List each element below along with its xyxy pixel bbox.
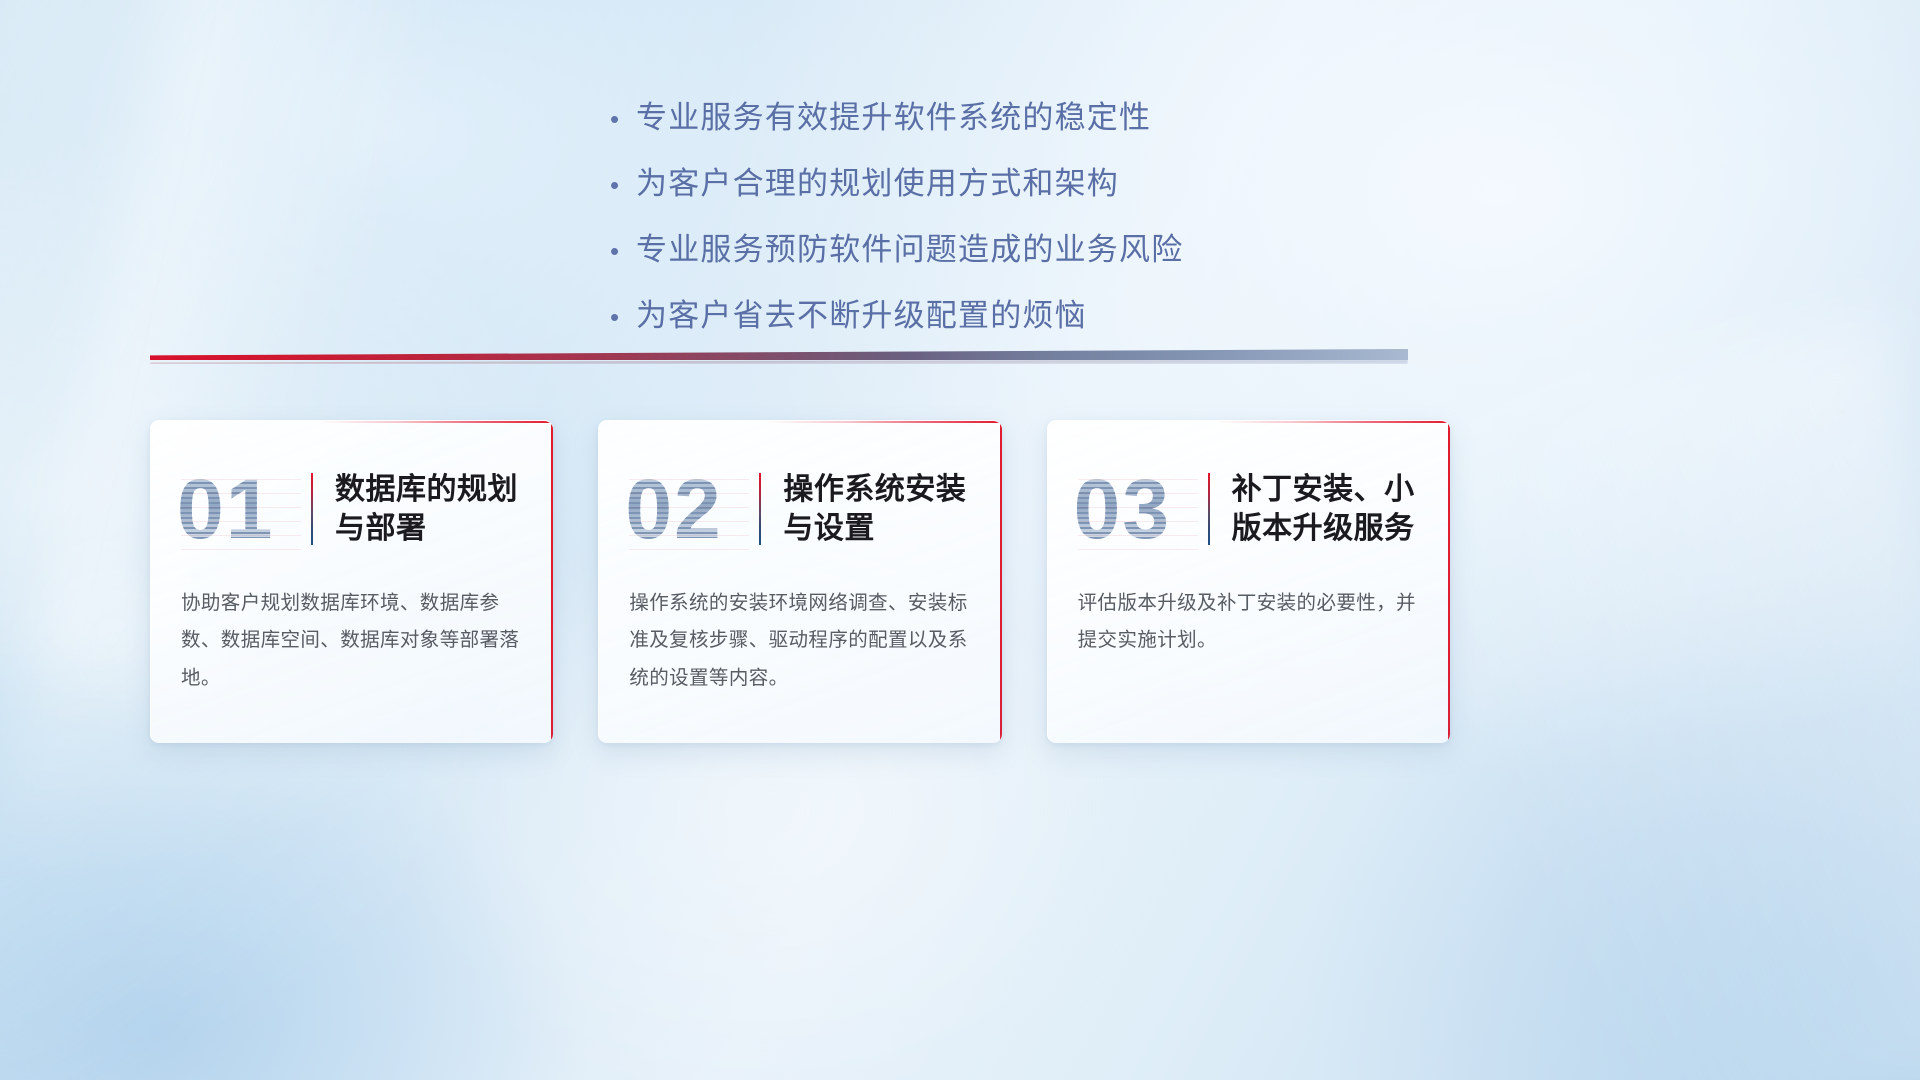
list-item: • 为客户省去不断升级配置的烦恼 (610, 290, 1310, 342)
card-body-text: 协助客户规划数据库环境、数据库参数、数据库空间、数据库对象等部署落地。 (151, 579, 553, 697)
section-divider-bar (150, 349, 1408, 360)
card-divider-rule (1208, 473, 1210, 545)
section-divider (150, 349, 1408, 365)
benefits-bullet-list: • 专业服务有效提升软件系统的稳定性 • 为客户合理的规划使用方式和架构 • 专… (0, 92, 1920, 356)
card-number-text: 03 (1074, 467, 1171, 551)
bullet-dot-icon: • (610, 172, 636, 198)
bullet-dot-icon: • (610, 304, 636, 330)
card-number: 02 (625, 467, 753, 551)
card-title: 数据库的规划与部署 (335, 470, 547, 548)
service-card-03[interactable]: 03 补丁安装、小版本升级服务 评估版本升级及补丁安装的必要性，并提交实施计划。 (1047, 420, 1450, 743)
list-item: • 为客户合理的规划使用方式和架构 (610, 158, 1310, 210)
card-header: 01 数据库的规划与部署 (151, 421, 553, 579)
card-body-text: 评估版本升级及补丁安装的必要性，并提交实施计划。 (1048, 579, 1450, 660)
card-header: 03 补丁安装、小版本升级服务 (1048, 421, 1450, 579)
card-number: 01 (177, 467, 305, 551)
service-card-02[interactable]: 02 操作系统安装与设置 操作系统的安装环境网络调查、安装标准及复核步骤、驱动程… (598, 420, 1001, 743)
list-item: • 专业服务有效提升软件系统的稳定性 (610, 92, 1310, 144)
card-number-text: 02 (625, 467, 722, 551)
card-number-text: 01 (177, 467, 274, 551)
card-divider-rule (759, 473, 761, 545)
card-divider-rule (311, 473, 313, 545)
card-body-text: 操作系统的安装环境网络调查、安装标准及复核步骤、驱动程序的配置以及系统的设置等内… (599, 579, 1001, 697)
bullet-dot-icon: • (610, 238, 636, 264)
service-card-01[interactable]: 01 数据库的规划与部署 协助客户规划数据库环境、数据库参数、数据库空间、数据库… (150, 420, 553, 743)
list-item: • 专业服务预防软件问题造成的业务风险 (610, 224, 1310, 276)
slide-canvas: • 专业服务有效提升软件系统的稳定性 • 为客户合理的规划使用方式和架构 • 专… (0, 0, 1920, 1080)
service-card-group: 01 数据库的规划与部署 协助客户规划数据库环境、数据库参数、数据库空间、数据库… (150, 420, 1450, 745)
card-header: 02 操作系统安装与设置 (599, 421, 1001, 579)
card-number: 03 (1074, 467, 1202, 551)
bullet-dot-icon: • (610, 106, 636, 132)
bullet-text: 专业服务预防软件问题造成的业务风险 (636, 224, 1183, 269)
bullet-text: 为客户省去不断升级配置的烦恼 (636, 290, 1087, 335)
bullet-text: 为客户合理的规划使用方式和架构 (636, 158, 1119, 203)
card-title: 操作系统安装与设置 (783, 470, 995, 548)
card-title: 补丁安装、小版本升级服务 (1232, 470, 1444, 548)
bullet-text: 专业服务有效提升软件系统的稳定性 (636, 92, 1151, 137)
